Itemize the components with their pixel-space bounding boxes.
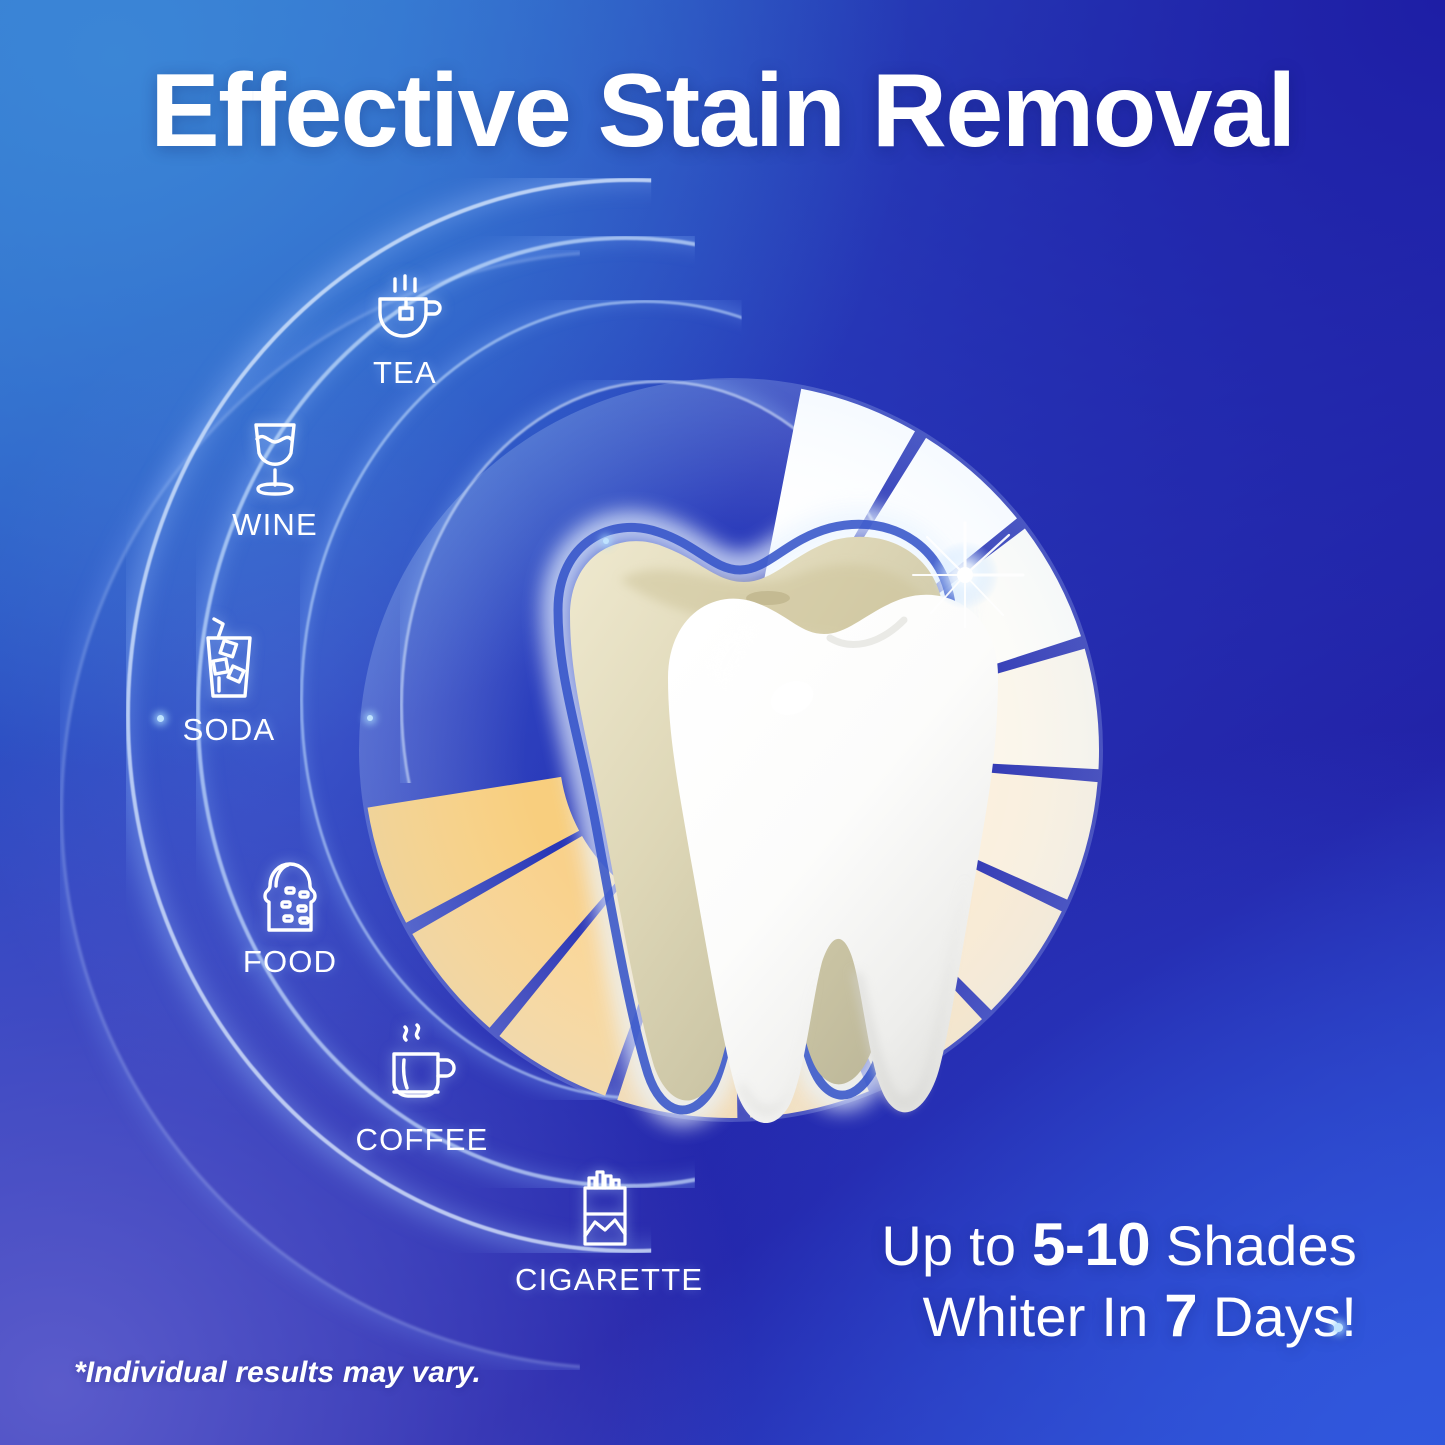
whitening-claim: Up to 5-10 Shades Whiter In 7 Days! xyxy=(881,1210,1357,1352)
claim-line1-prefix: Up to xyxy=(881,1214,1032,1277)
claim-days-value: 7 xyxy=(1164,1282,1197,1349)
disclaimer-text: *Individual results may vary. xyxy=(74,1356,481,1390)
claim-line1-suffix: Shades xyxy=(1150,1214,1357,1277)
wine-glass-icon xyxy=(185,425,365,497)
claim-shades-value: 5-10 xyxy=(1032,1211,1150,1278)
sparkle-icon xyxy=(905,515,1025,635)
stain-source-cigarette[interactable]: CIGARETTE xyxy=(515,1180,695,1298)
stain-source-wine[interactable]: WINE xyxy=(185,425,365,543)
stain-source-coffee[interactable]: COFFEE xyxy=(332,1040,512,1158)
stain-source-soda[interactable]: SODA xyxy=(139,630,319,748)
claim-line2-suffix: Days! xyxy=(1197,1285,1357,1348)
coffee-cup-icon xyxy=(332,1040,512,1112)
stain-label-tea: TEA xyxy=(315,355,495,391)
stain-label-soda: SODA xyxy=(139,712,319,748)
stain-source-food[interactable]: FOOD xyxy=(200,862,380,980)
claim-line-2: Whiter In 7 Days! xyxy=(881,1281,1357,1352)
sparkle-dot xyxy=(603,538,609,544)
promo-graphic: Effective Stain Removal TEA xyxy=(0,0,1445,1445)
stain-label-food: FOOD xyxy=(200,944,380,980)
stain-label-coffee: COFFEE xyxy=(332,1122,512,1158)
stain-source-tea[interactable]: TEA xyxy=(315,273,495,391)
sparkle-dot xyxy=(367,715,373,721)
claim-line2-prefix: Whiter In xyxy=(923,1285,1165,1348)
teacup-icon xyxy=(315,273,495,345)
sparkle-dot xyxy=(1334,1323,1343,1332)
page-title: Effective Stain Removal xyxy=(0,52,1445,171)
stain-label-wine: WINE xyxy=(185,507,365,543)
bread-slice-icon xyxy=(200,862,380,934)
claim-line-1: Up to 5-10 Shades xyxy=(881,1210,1357,1281)
cigarette-pack-icon xyxy=(515,1180,695,1252)
stain-label-cigarette: CIGARETTE xyxy=(515,1262,695,1298)
soda-glass-icon xyxy=(139,630,319,702)
sparkle-dot xyxy=(157,715,164,722)
